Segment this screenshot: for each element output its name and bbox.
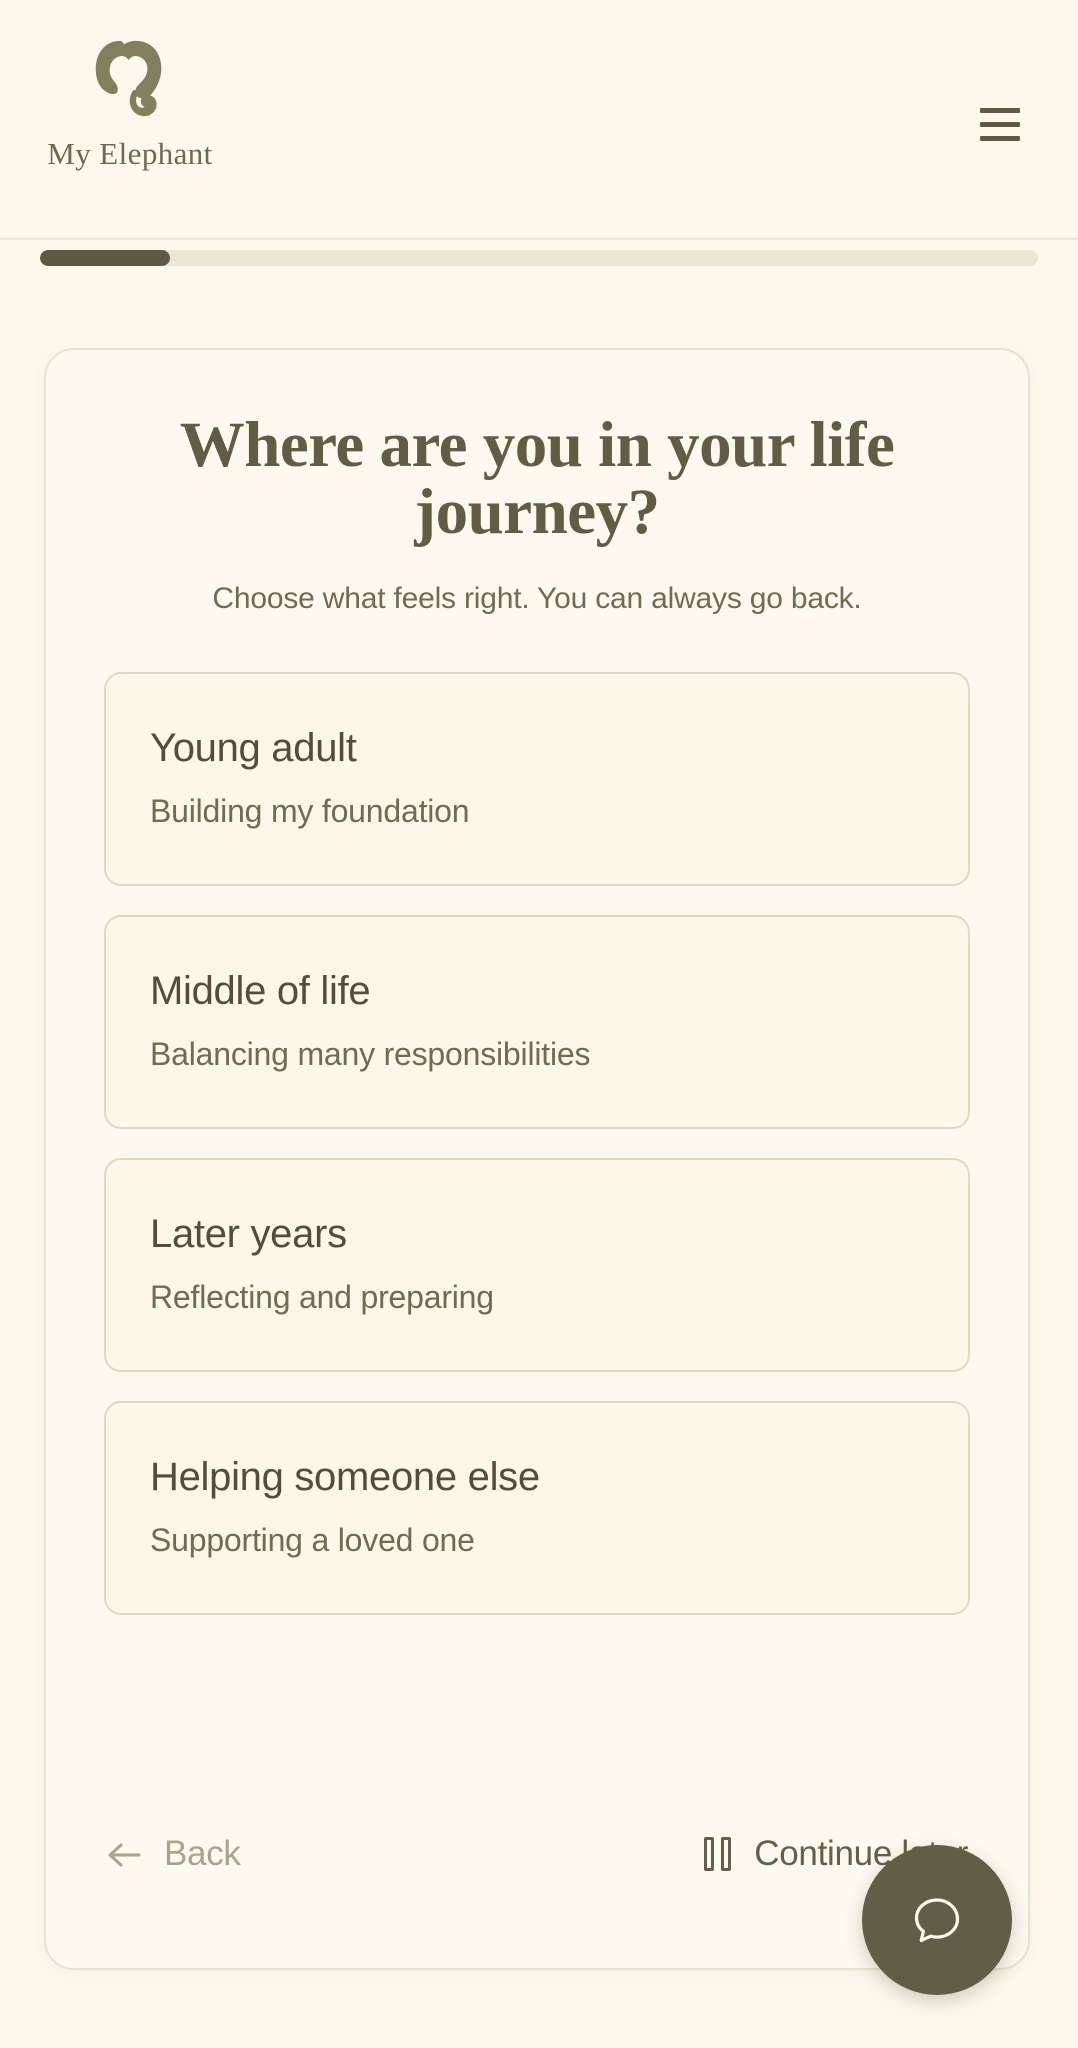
option-description: Supporting a loved one bbox=[150, 1522, 924, 1559]
chat-fab-button[interactable] bbox=[862, 1845, 1012, 1995]
option-description: Balancing many responsibilities bbox=[150, 1036, 924, 1073]
pause-bar-2 bbox=[721, 1837, 731, 1871]
hamburger-menu-icon[interactable] bbox=[980, 100, 1036, 148]
menu-bar-1 bbox=[980, 108, 1020, 113]
menu-bar-2 bbox=[980, 122, 1020, 127]
back-button-label: Back bbox=[164, 1834, 241, 1874]
site-header: My Elephant bbox=[0, 0, 1078, 240]
option-title: Middle of life bbox=[150, 969, 924, 1014]
onboarding-progress bbox=[40, 250, 1038, 266]
progress-fill bbox=[40, 250, 170, 266]
pause-bar-1 bbox=[704, 1837, 714, 1871]
page-subtitle: Choose what feels right. You can always … bbox=[104, 582, 970, 616]
brand-name: My Elephant bbox=[47, 136, 212, 172]
life-stage-option[interactable]: Middle of lifeBalancing many responsibil… bbox=[104, 915, 970, 1129]
arrow-left-icon bbox=[106, 1839, 142, 1869]
life-stage-options: Young adultBuilding my foundationMiddle … bbox=[104, 672, 970, 1615]
brand-logo-link[interactable]: My Elephant bbox=[40, 38, 220, 172]
option-title: Later years bbox=[150, 1212, 924, 1257]
option-title: Helping someone else bbox=[150, 1455, 924, 1500]
life-stage-option[interactable]: Helping someone elseSupporting a loved o… bbox=[104, 1401, 970, 1615]
back-button[interactable]: Back bbox=[104, 1828, 243, 1880]
life-stage-option[interactable]: Young adultBuilding my foundation bbox=[104, 672, 970, 886]
onboarding-step-card: Where are you in your life journey? Choo… bbox=[44, 348, 1030, 1970]
pause-icon bbox=[704, 1837, 732, 1871]
option-title: Young adult bbox=[150, 726, 924, 771]
elephant-heart-logo-icon bbox=[91, 38, 169, 128]
page-title: Where are you in your life journey? bbox=[104, 412, 970, 546]
progress-track bbox=[40, 250, 1038, 266]
menu-bar-3 bbox=[980, 136, 1020, 141]
chat-bubble-icon bbox=[908, 1891, 966, 1949]
step-footer-nav: Back Continue later bbox=[104, 1828, 970, 1880]
life-stage-option[interactable]: Later yearsReflecting and preparing bbox=[104, 1158, 970, 1372]
option-description: Building my foundation bbox=[150, 793, 924, 830]
option-description: Reflecting and preparing bbox=[150, 1279, 924, 1316]
